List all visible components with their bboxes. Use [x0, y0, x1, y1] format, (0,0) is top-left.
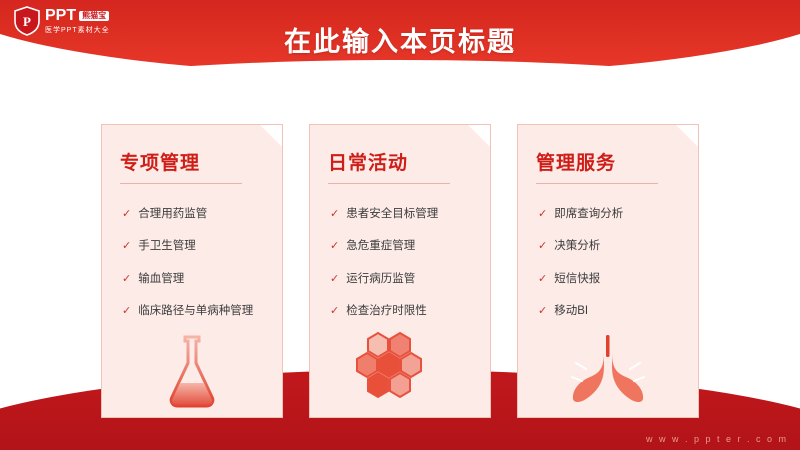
card-title: 管理服务: [536, 148, 698, 175]
list-item-label: 输血管理: [138, 271, 184, 288]
page-fold-icon: [468, 125, 490, 147]
card-title: 专项管理: [120, 148, 282, 175]
card-list: ✓即席查询分析 ✓决策分析 ✓短信快报 ✓移动BI: [518, 206, 698, 320]
list-item-label: 决策分析: [554, 238, 600, 255]
check-icon: ✓: [330, 206, 339, 223]
list-item-label: 运行病历监管: [346, 271, 415, 288]
list-item[interactable]: ✓即席查询分析: [538, 206, 684, 223]
check-icon: ✓: [538, 303, 547, 320]
card-row: 专项管理 ✓合理用药监管 ✓手卫生管理 ✓输血管理 ✓临床路径与单病种管理: [0, 124, 800, 418]
slide-root: P PPT 熊猫宝 医学PPT素材大全 在此输入本页标题 专项管理 ✓合理用药监…: [0, 0, 800, 450]
card-divider: [328, 183, 450, 184]
card-special-management[interactable]: 专项管理 ✓合理用药监管 ✓手卫生管理 ✓输血管理 ✓临床路径与单病种管理: [101, 124, 283, 418]
header-curve: [0, 60, 800, 120]
hexagon-molecule-icon: [310, 325, 490, 411]
check-icon: ✓: [330, 303, 339, 320]
list-item[interactable]: ✓临床路径与单病种管理: [122, 303, 268, 320]
check-icon: ✓: [538, 238, 547, 255]
logo-tagline: 医学PPT素材大全: [45, 27, 110, 34]
list-item-label: 临床路径与单病种管理: [138, 303, 253, 320]
logo-badge: 熊猫宝: [79, 11, 109, 21]
svg-text:P: P: [23, 14, 31, 29]
list-item-label: 患者安全目标管理: [346, 206, 438, 223]
list-item[interactable]: ✓输血管理: [122, 271, 268, 288]
shield-icon: P: [14, 6, 40, 36]
check-icon: ✓: [330, 238, 339, 255]
logo-brand: PPT: [45, 8, 76, 24]
list-item-label: 检查治疗时限性: [346, 303, 427, 320]
list-item-label: 移动BI: [554, 303, 588, 320]
card-title: 日常活动: [328, 148, 490, 175]
card-daily-activity[interactable]: 日常活动 ✓患者安全目标管理 ✓急危重症管理 ✓运行病历监管 ✓检查治疗时限性: [309, 124, 491, 418]
logo-text: PPT 熊猫宝 医学PPT素材大全: [45, 8, 110, 34]
watermark: w w w . p p t e r . c o m: [646, 434, 788, 444]
logo[interactable]: P PPT 熊猫宝 医学PPT素材大全: [14, 6, 110, 36]
list-item-label: 手卫生管理: [138, 238, 196, 255]
check-icon: ✓: [330, 271, 339, 288]
card-list: ✓合理用药监管 ✓手卫生管理 ✓输血管理 ✓临床路径与单病种管理: [102, 206, 282, 320]
card-divider: [536, 183, 658, 184]
check-icon: ✓: [538, 271, 547, 288]
check-icon: ✓: [122, 271, 131, 288]
flask-icon: [102, 325, 282, 411]
list-item[interactable]: ✓患者安全目标管理: [330, 206, 476, 223]
list-item[interactable]: ✓合理用药监管: [122, 206, 268, 223]
list-item[interactable]: ✓急危重症管理: [330, 238, 476, 255]
list-item[interactable]: ✓短信快报: [538, 271, 684, 288]
list-item-label: 合理用药监管: [138, 206, 207, 223]
card-list: ✓患者安全目标管理 ✓急危重症管理 ✓运行病历监管 ✓检查治疗时限性: [310, 206, 490, 320]
card-management-service[interactable]: 管理服务 ✓即席查询分析 ✓决策分析 ✓短信快报 ✓移动BI: [517, 124, 699, 418]
list-item[interactable]: ✓手卫生管理: [122, 238, 268, 255]
check-icon: ✓: [122, 303, 131, 320]
page-title: 在此输入本页标题: [0, 20, 800, 59]
check-icon: ✓: [122, 238, 131, 255]
check-icon: ✓: [122, 206, 131, 223]
list-item[interactable]: ✓检查治疗时限性: [330, 303, 476, 320]
check-icon: ✓: [538, 206, 547, 223]
list-item-label: 即席查询分析: [554, 206, 623, 223]
page-fold-icon: [260, 125, 282, 147]
list-item[interactable]: ✓决策分析: [538, 238, 684, 255]
lungs-icon: [518, 325, 698, 411]
list-item-label: 短信快报: [554, 271, 600, 288]
page-fold-icon: [676, 125, 698, 147]
card-divider: [120, 183, 242, 184]
list-item-label: 急危重症管理: [346, 238, 415, 255]
list-item[interactable]: ✓移动BI: [538, 303, 684, 320]
list-item[interactable]: ✓运行病历监管: [330, 271, 476, 288]
